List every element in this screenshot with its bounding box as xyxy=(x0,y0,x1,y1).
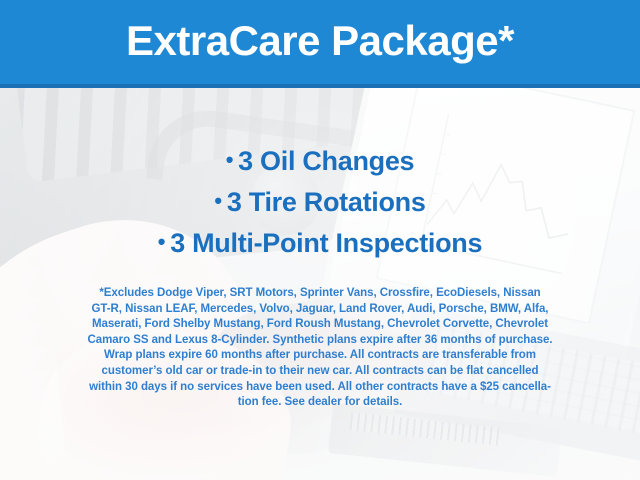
list-item-label: 3 Tire Rotations xyxy=(227,187,426,217)
bullet-dot-icon: • xyxy=(158,229,165,254)
benefits-list: •3 Oil Changes •3 Tire Rotations •3 Mult… xyxy=(0,140,640,263)
list-item: •3 Oil Changes xyxy=(0,140,640,181)
banner-bottom-edge xyxy=(0,84,640,88)
disclaimer-line: tion fee. See dealer for details. xyxy=(18,395,622,411)
page-title: ExtraCare Package* xyxy=(0,17,640,65)
list-item-label: 3 Oil Changes xyxy=(238,146,414,176)
list-item: •3 Multi-Point Inspections xyxy=(0,222,640,263)
disclaimer-text: *Excludes Dodge Viper, SRT Motors, Sprin… xyxy=(18,286,622,411)
bullet-dot-icon: • xyxy=(226,147,233,172)
disclaimer-line: *Excludes Dodge Viper, SRT Motors, Sprin… xyxy=(18,286,622,302)
extracare-package-poster: ExtraCare Package* •3 Oil Changes •3 Tir… xyxy=(0,0,640,480)
disclaimer-line: Camaro SS and Lexus 8-Cylinder. Syntheti… xyxy=(18,333,622,349)
list-item: •3 Tire Rotations xyxy=(0,181,640,222)
disclaimer-line: within 30 days if no services have been … xyxy=(18,380,622,396)
list-item-label: 3 Multi-Point Inspections xyxy=(170,228,482,258)
disclaimer-line: customer’s old car or trade-in to their … xyxy=(18,364,622,380)
disclaimer-line: Maserati, Ford Shelby Mustang, Ford Rous… xyxy=(18,317,622,333)
bullet-dot-icon: • xyxy=(214,188,221,213)
header-banner: ExtraCare Package* xyxy=(0,0,640,88)
disclaimer-line: Wrap plans expire 60 months after purcha… xyxy=(18,348,622,364)
disclaimer-line: GT-R, Nissan LEAF, Mercedes, Volvo, Jagu… xyxy=(18,302,622,318)
